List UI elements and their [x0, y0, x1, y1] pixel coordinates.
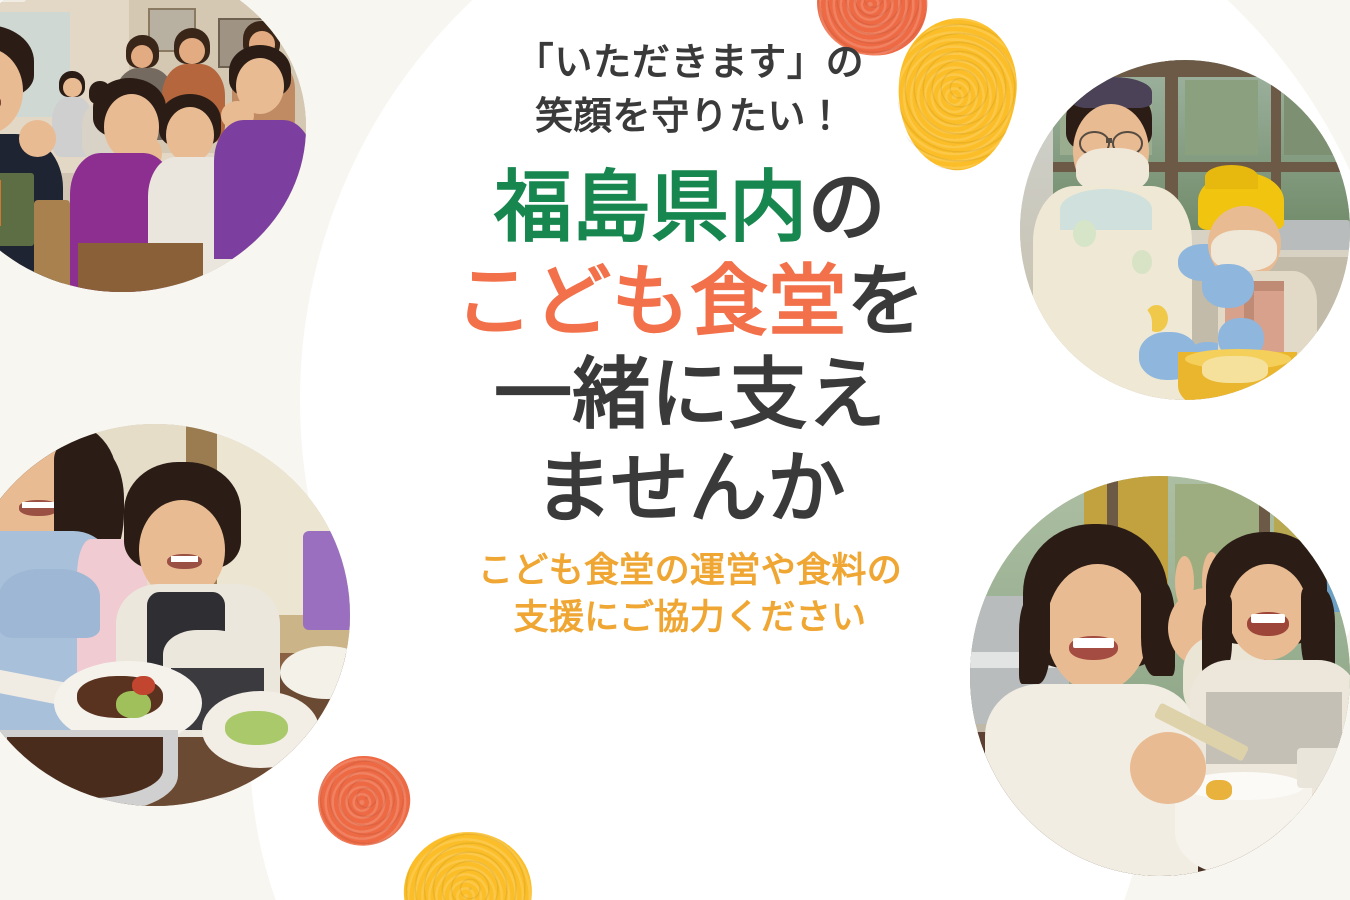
lead-line-1: 「いただきます」の [390, 36, 990, 90]
page-title: 福島県内の こども食堂を 一緒に支え ませんか [390, 162, 990, 536]
photo-bottom-right [970, 476, 1350, 876]
headline-line-3: 一緒に支え [390, 349, 990, 443]
photo-top-right [1020, 60, 1350, 400]
lead-text: 「いただきます」の 笑顔を守りたい！ [390, 36, 990, 144]
lead-line-2: 笑顔を守りたい！ [390, 90, 990, 144]
headline-kodomoshokudo-highlight: こども食堂 [455, 257, 847, 347]
photo-bottom-left [0, 424, 350, 806]
headline-block: 「いただきます」の 笑顔を守りたい！ 福島県内の こども食堂を 一緒に支え ませ… [390, 36, 990, 642]
headline-line-1-suffix: の [808, 163, 886, 253]
headline-line-1: 福島県内の [390, 162, 990, 256]
headline-line-4: ませんか [390, 443, 990, 537]
photo-top-left [0, 0, 306, 292]
headline-line-2-suffix: を [847, 257, 925, 347]
support-caption: こども食堂の運営や食料の 支援にご協力ください [390, 548, 990, 642]
caption-line-2: 支援にご協力ください [390, 595, 990, 642]
campaign-banner: 「いただきます」の 笑顔を守りたい！ 福島県内の こども食堂を 一緒に支え ませ… [0, 0, 1350, 900]
caption-line-1: こども食堂の運営や食料の [390, 548, 990, 595]
headline-region-highlight: 福島県内 [494, 163, 808, 253]
headline-line-2: こども食堂を [390, 256, 990, 350]
